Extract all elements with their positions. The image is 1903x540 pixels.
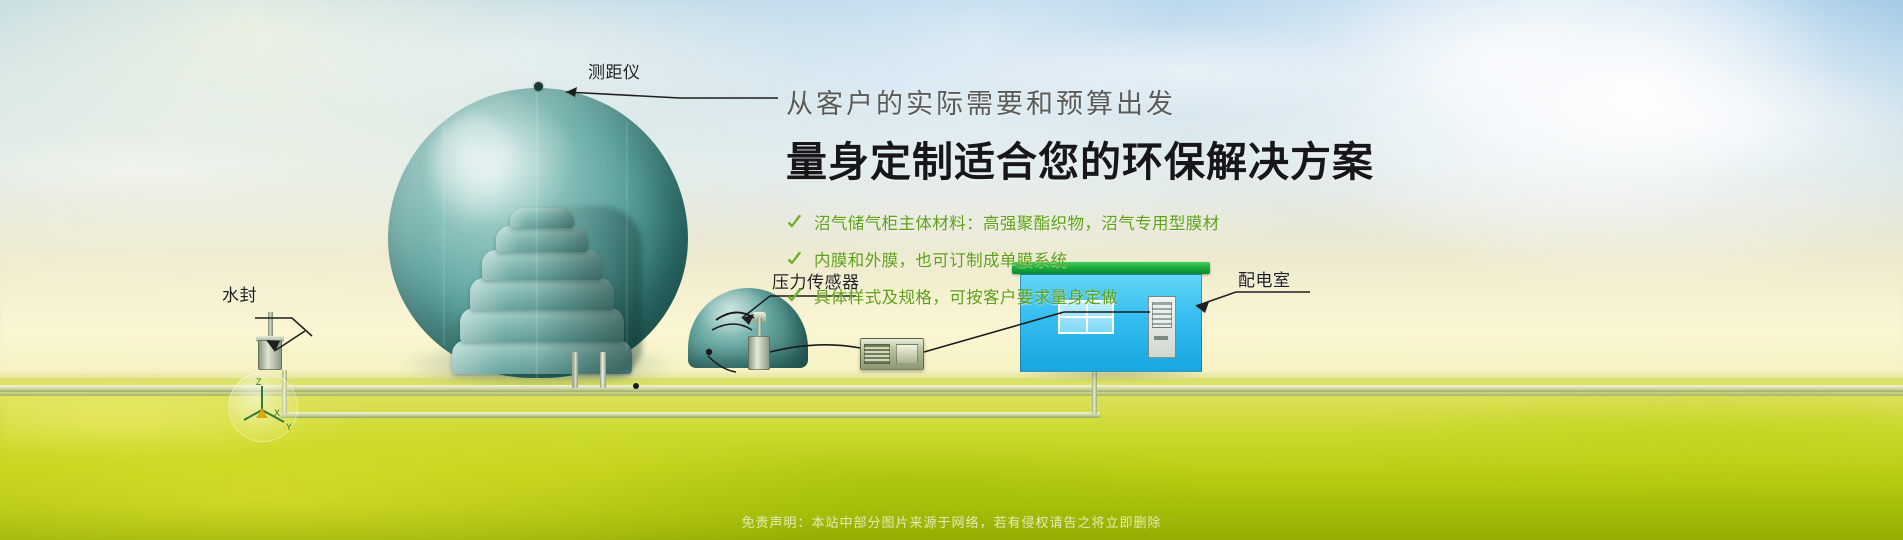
svg-text:Z: Z <box>256 377 262 387</box>
leader-line-water-seal-2 <box>276 331 305 350</box>
feature-text: 沼气储气柜主体材料：高强聚酯织物，沼气专用型膜材 <box>814 210 1220 234</box>
list-item: 内膜和外膜，也可订制成单膜系统 <box>786 247 1486 271</box>
leader-arrowhead <box>566 87 577 97</box>
svg-text:X: X <box>274 408 280 418</box>
feature-text: 内膜和外膜，也可订制成单膜系统 <box>814 247 1068 271</box>
svg-text:Y: Y <box>286 422 292 432</box>
leader-line-rangefinder-arrow <box>566 92 680 98</box>
list-item: 沼气储气柜主体材料：高强聚酯织物，沼气专用型膜材 <box>786 210 1486 234</box>
leader-arrowhead <box>266 340 280 352</box>
check-icon <box>786 251 803 268</box>
gizmo-axes: Z X Y <box>228 372 298 442</box>
disclaimer-text: 免责声明：本站中部分图片来源于网络，若有侵权请告之将立即删除 <box>0 512 1903 531</box>
label-water-seal: 水封 <box>222 281 257 306</box>
feature-text: 具体样式及规格，可按客户要求量身定做 <box>814 284 1118 308</box>
check-icon <box>786 288 803 305</box>
label-rangefinder: 测距仪 <box>588 58 641 83</box>
leader-line-water-seal <box>255 318 312 336</box>
banner-stage: Z X Y 测距仪 水封 压力传感器 配电室 从客户的实际需要和预算出发 量身定… <box>0 0 1903 540</box>
cable-node <box>633 383 639 389</box>
copy-subtitle: 从客户的实际需要和预算出发 <box>786 82 1486 121</box>
check-icon <box>786 214 803 231</box>
cable-dome-to-sensor-2 <box>712 324 752 330</box>
cable-node <box>706 349 712 355</box>
copy-headline: 量身定制适合您的环保解决方案 <box>786 128 1486 188</box>
marketing-copy: 从客户的实际需要和预算出发 量身定制适合您的环保解决方案 沼气储气柜主体材料：高… <box>786 82 1486 321</box>
cable-sensor-to-compressor <box>770 345 860 352</box>
cable-dome-lower <box>708 356 736 372</box>
axis-gizmo: Z X Y <box>228 372 298 442</box>
list-item: 具体样式及规格，可按客户要求量身定做 <box>786 284 1486 308</box>
feature-list: 沼气储气柜主体材料：高强聚酯织物，沼气专用型膜材 内膜和外膜，也可订制成单膜系统… <box>786 210 1486 308</box>
